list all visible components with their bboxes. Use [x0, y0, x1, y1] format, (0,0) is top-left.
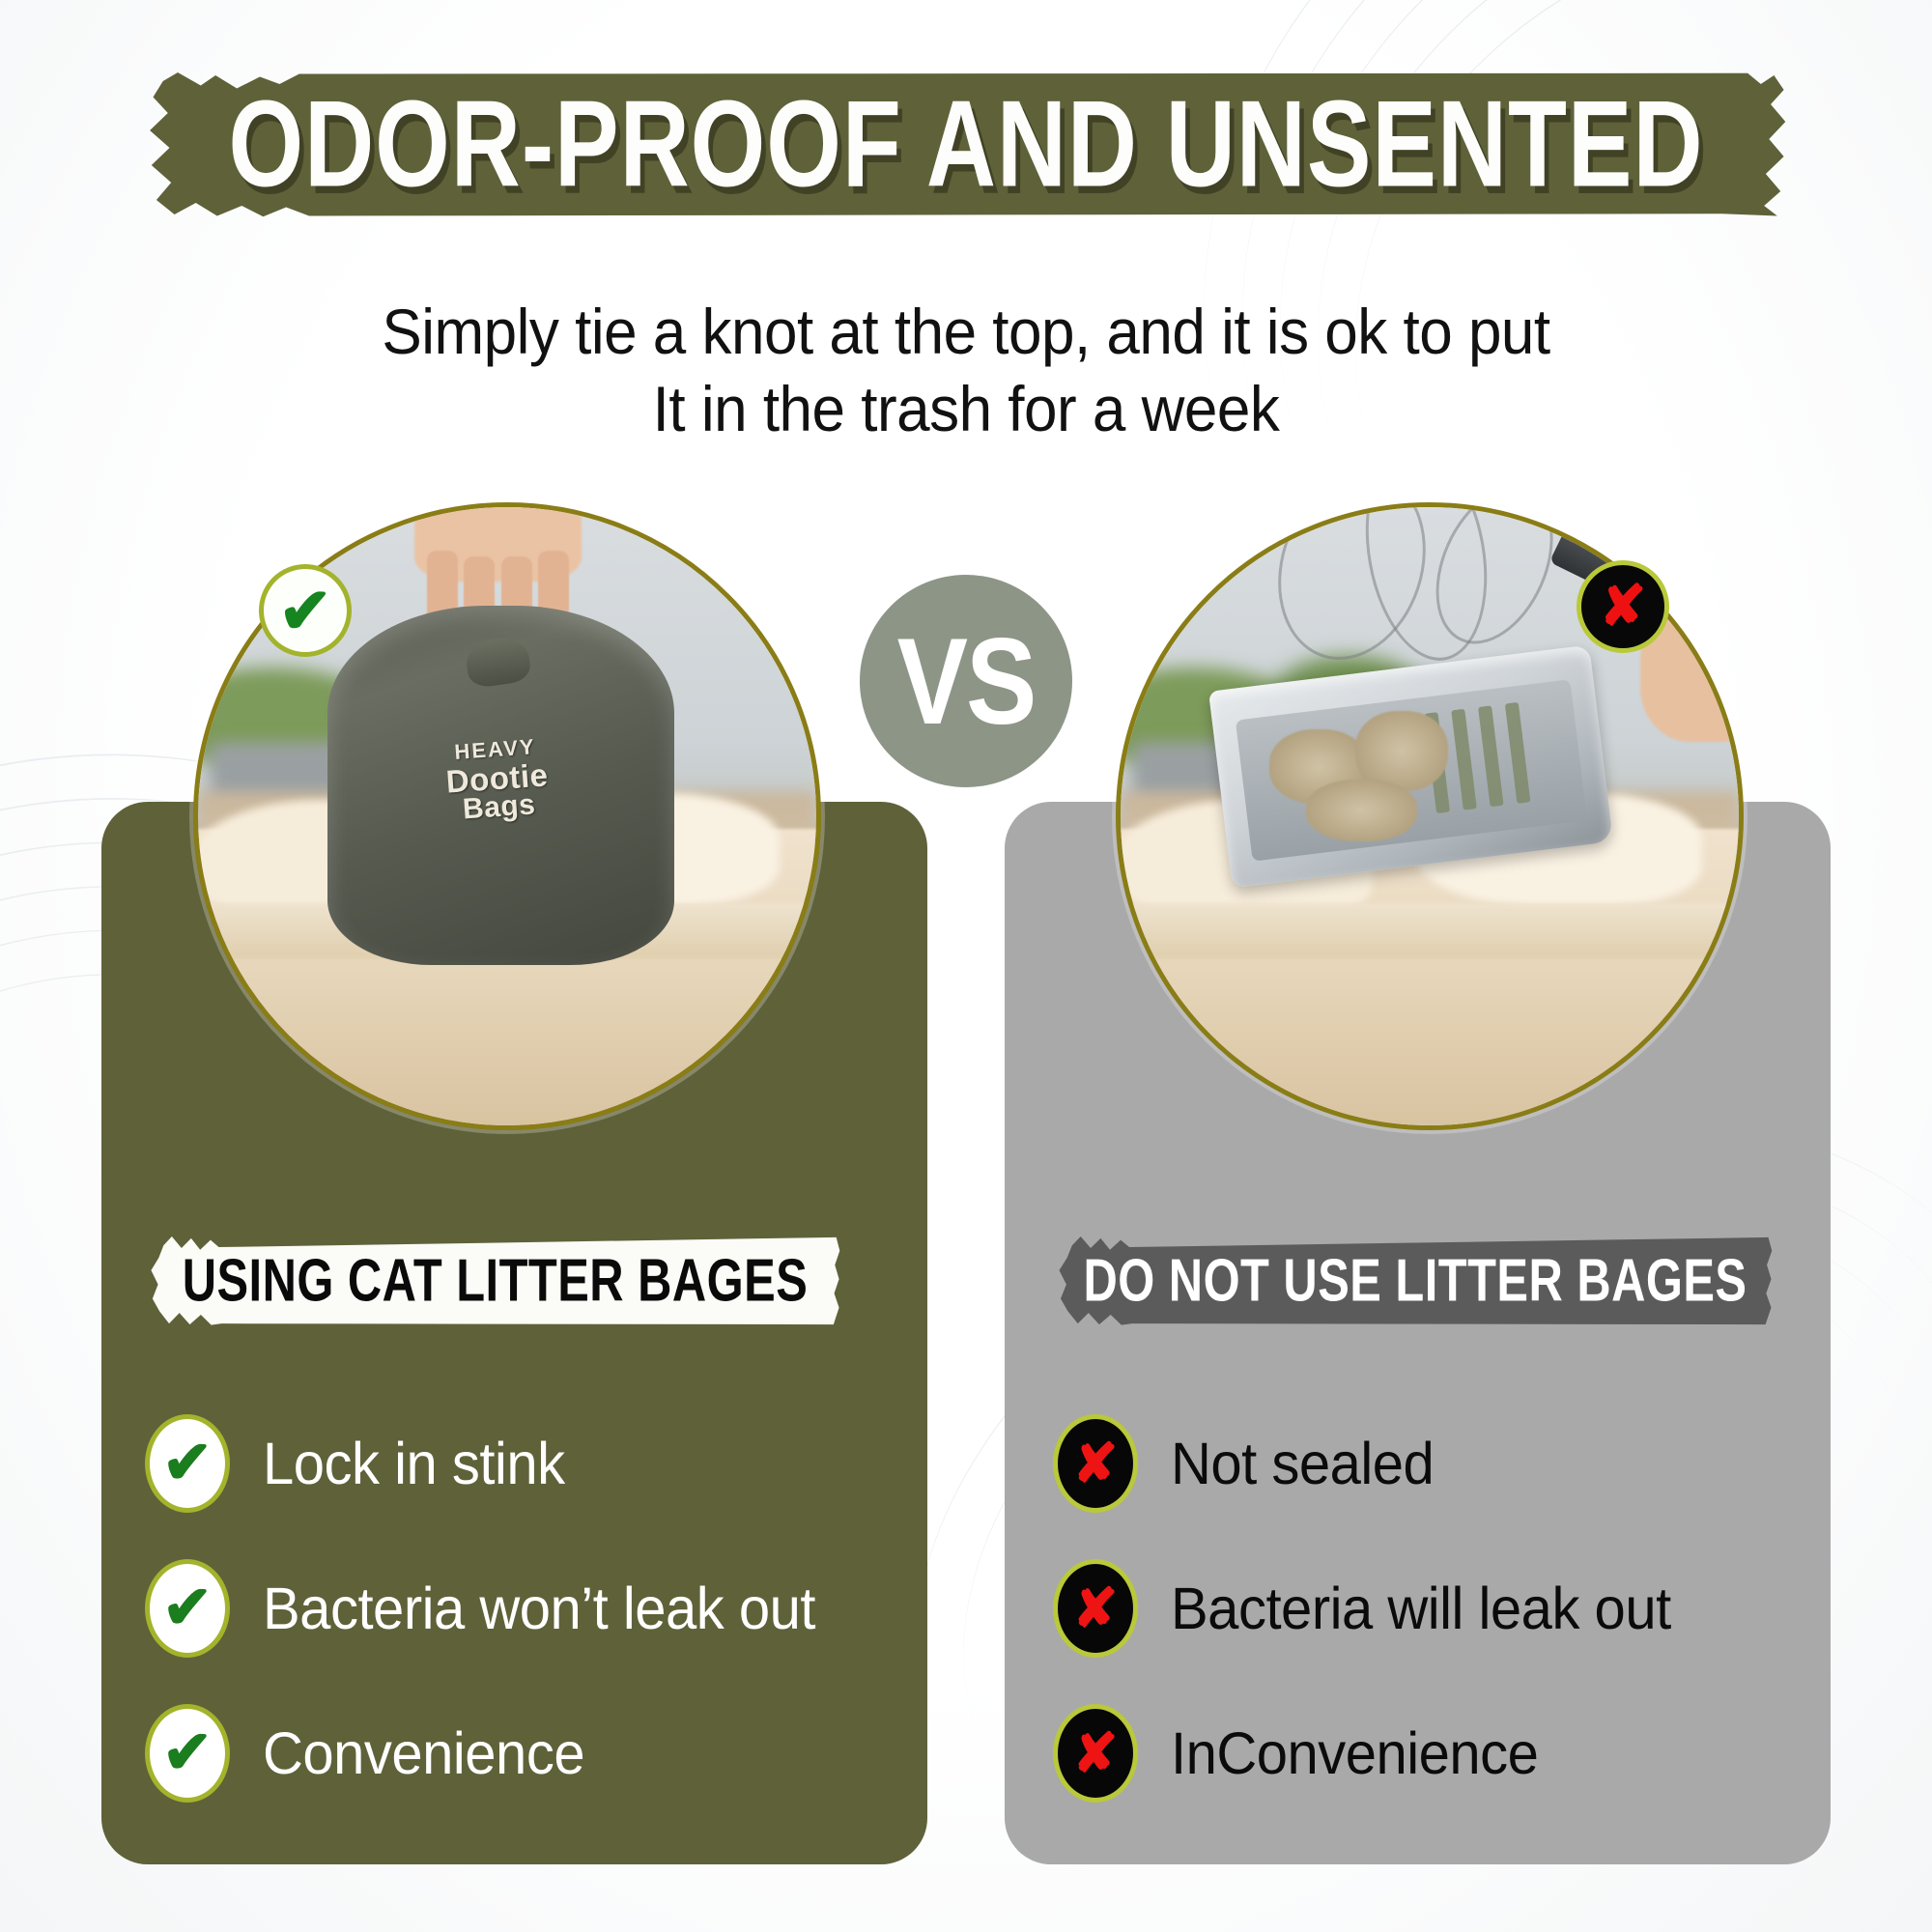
- list-item: ✘ InConvenience: [1053, 1681, 1826, 1826]
- page-title: ODOR-PROOF AND UNSENTED: [178, 57, 1754, 234]
- header-brush-banner: ODOR-PROOF AND UNSENTED: [145, 72, 1787, 217]
- subtitle: Simply tie a knot at the top, and it is …: [0, 295, 1932, 449]
- list-item-label: InConvenience: [1171, 1719, 1538, 1787]
- x-icon: ✘: [1053, 1414, 1138, 1513]
- check-icon: ✔: [145, 1414, 230, 1513]
- check-badge-icon: ✔: [259, 564, 352, 657]
- banner-label-bad: DO NOT USE LITTER BAGES: [1079, 1228, 1751, 1334]
- list-item-label: Not sealed: [1171, 1429, 1434, 1497]
- subtitle-line-2: It in the trash for a week: [0, 370, 1932, 452]
- list-item: ✔ Convenience: [145, 1681, 908, 1826]
- list-item: ✘ Not sealed: [1053, 1391, 1826, 1536]
- subtitle-line-1: Simply tie a knot at the top, and it is …: [0, 293, 1932, 375]
- x-badge-icon: ✘: [1577, 560, 1669, 653]
- list-item-label: Lock in stink: [263, 1429, 565, 1497]
- drawbacks-list: ✘ Not sealed ✘ Bacteria will leak out ✘ …: [1053, 1391, 1826, 1826]
- vs-label: VS: [897, 610, 1036, 752]
- list-item-label: Convenience: [263, 1719, 584, 1787]
- banner-do-not-use-litter-bags: DO NOT USE LITTER BAGES: [1058, 1236, 1773, 1325]
- check-icon: ✔: [145, 1704, 230, 1803]
- x-icon: ✘: [1053, 1704, 1138, 1803]
- infographic-canvas: ODOR-PROOF AND UNSENTED Simply tie a kno…: [0, 0, 1932, 1932]
- list-item: ✔ Bacteria won’t leak out: [145, 1536, 908, 1681]
- vs-badge: VS: [860, 575, 1072, 787]
- banner-using-litter-bags: USING CAT LITTER BAGES: [150, 1236, 840, 1325]
- x-icon: ✘: [1053, 1559, 1138, 1658]
- check-icon: ✔: [145, 1559, 230, 1658]
- list-item: ✘ Bacteria will leak out: [1053, 1536, 1826, 1681]
- banner-label-good: USING CAT LITTER BAGES: [170, 1228, 819, 1334]
- benefits-list: ✔ Lock in stink ✔ Bacteria won’t leak ou…: [145, 1391, 908, 1826]
- list-item-label: Bacteria won’t leak out: [263, 1574, 815, 1642]
- list-item: ✔ Lock in stink: [145, 1391, 908, 1536]
- list-item-label: Bacteria will leak out: [1171, 1574, 1671, 1642]
